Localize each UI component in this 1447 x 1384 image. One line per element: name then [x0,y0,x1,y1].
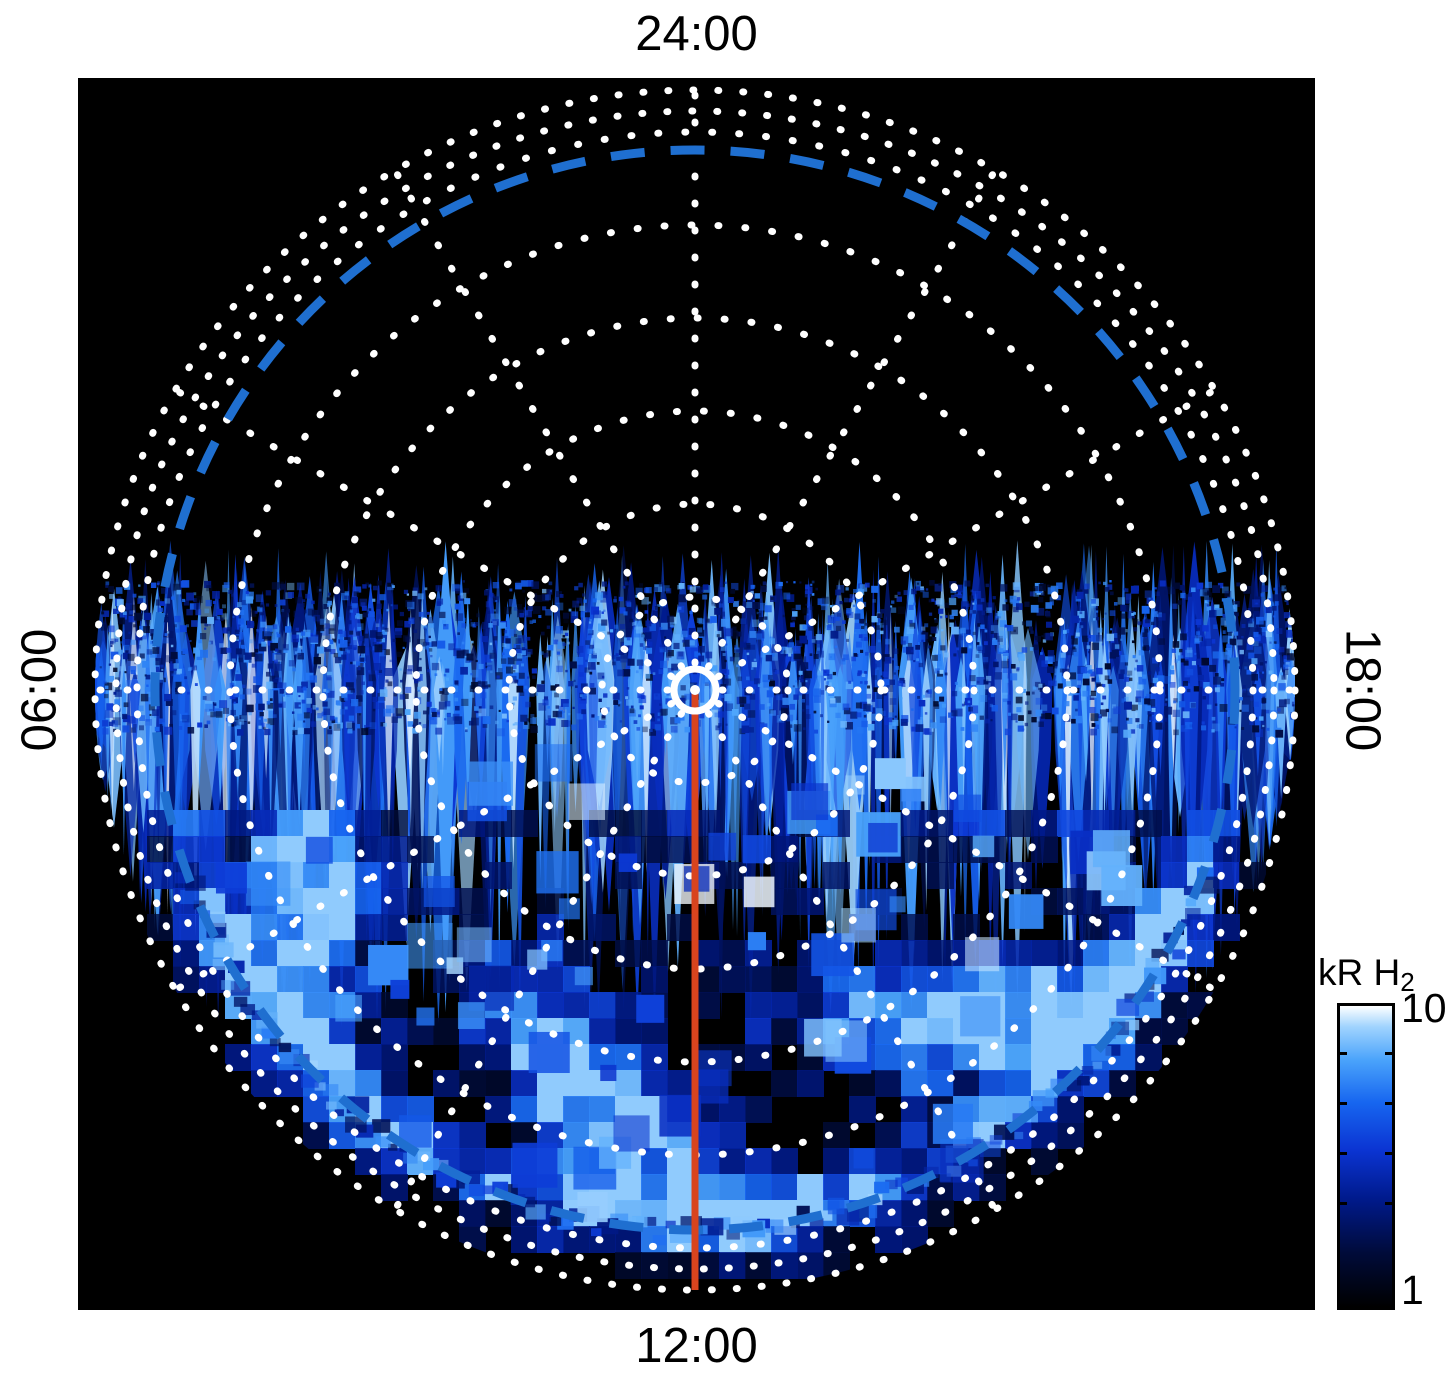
colorbar-tick-left-4 [1337,1202,1347,1205]
colorbar-swatch [1337,1003,1395,1310]
mlt-label-midnight: 24:00 [0,10,1393,59]
mlt-label-dawn: 06:00 [16,590,65,790]
colorbar-tick-right-3 [1385,1152,1395,1155]
mlt-label-dusk: 18:00 [1338,590,1387,790]
colorbar-tick-right-4 [1385,1202,1395,1205]
auroral-polar-figure: 24:00 12:00 06:00 18:00 [0,0,1447,1384]
colorbar-tick-right-2 [1385,1102,1395,1105]
colorbar-max-label: 10 [1401,988,1447,1029]
colorbar-title-main: kR H [1318,952,1400,993]
pole-center-dot-icon [690,685,700,695]
colorbar-min-label: 1 [1401,1270,1424,1311]
colorbar-tick-left-2 [1337,1102,1347,1105]
polar-plot-panel [78,78,1315,1310]
colorbar-tick-left-1 [1337,1052,1347,1055]
colorbar-tick-right-1 [1385,1052,1395,1055]
colorbar-tick-left-3 [1337,1152,1347,1155]
mlt-label-noon: 12:00 [0,1322,1393,1371]
polar-plot-canvas [78,78,1315,1310]
